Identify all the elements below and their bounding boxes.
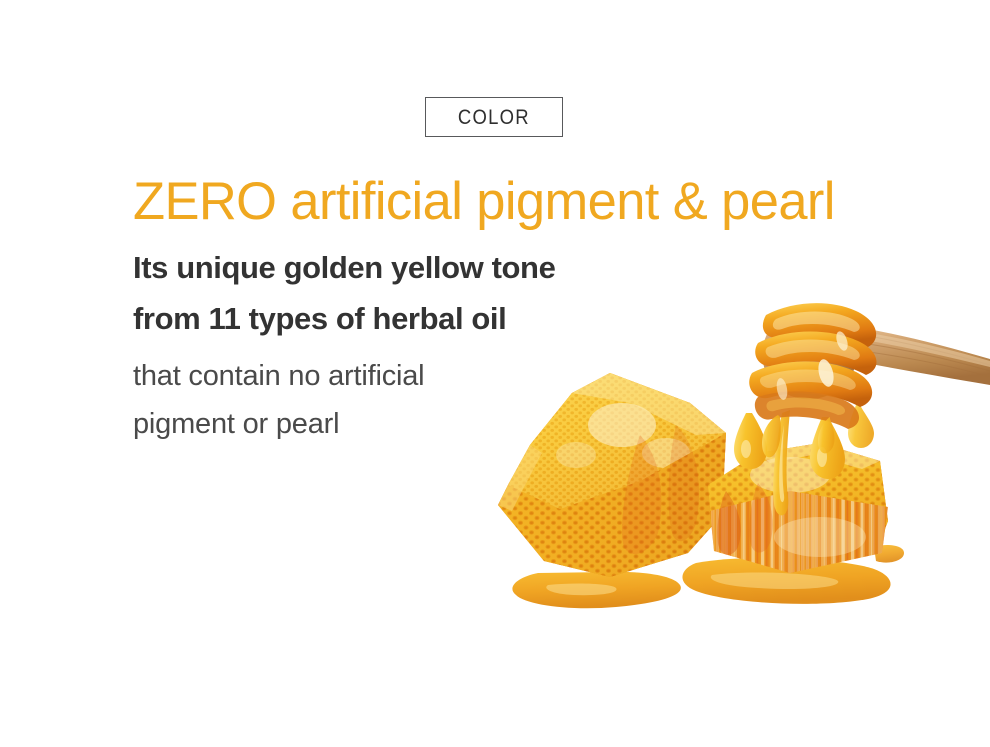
- honeycomb-block-right: [700, 435, 900, 580]
- color-section-badge: COLOR: [425, 97, 563, 137]
- feature-text-block: ZERO artificial pigment & pearl Its uniq…: [133, 172, 893, 448]
- color-feature-banner: COLOR ZERO artificial pigment & pearl It…: [0, 0, 990, 747]
- body-line-2: from 11 types of herbal oil: [133, 294, 893, 344]
- body-line-1: Its unique golden yellow tone: [133, 243, 893, 293]
- color-section-badge-label: COLOR: [458, 107, 530, 128]
- body-line-3: that contain no artificial: [133, 352, 893, 400]
- honey-pool-group: [512, 545, 904, 608]
- body-line-4: pigment or pearl: [133, 400, 893, 448]
- headline: ZERO artificial pigment & pearl: [133, 172, 885, 231]
